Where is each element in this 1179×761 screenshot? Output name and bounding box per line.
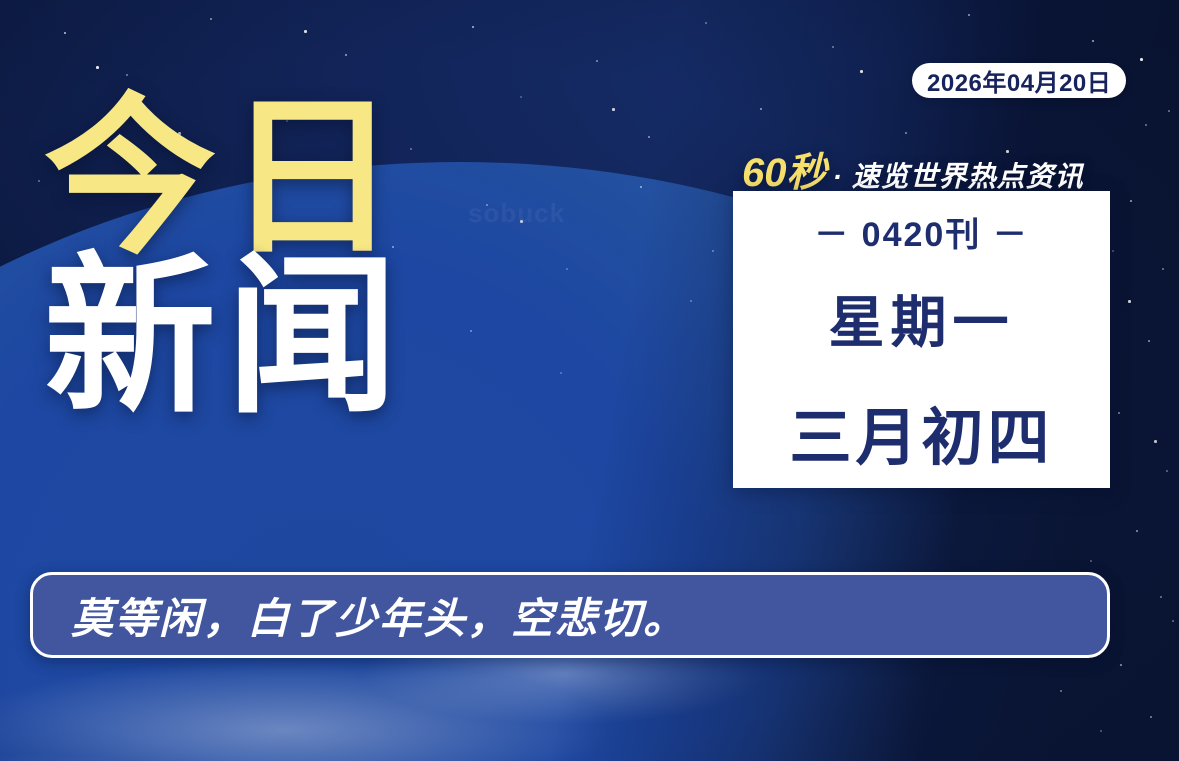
- issue-number: － 0420刊 －: [814, 207, 1029, 256]
- poster-canvas: sobuck 今日 新闻 2026年04月20日 60秒 · 速览世界热点资讯 …: [0, 0, 1179, 761]
- lunar-date-label: 三月初四: [789, 387, 1053, 477]
- weekday-label: 星期一: [829, 278, 1015, 359]
- tagline-description: · 速览世界热点资讯: [833, 155, 1084, 195]
- masthead-line-today: 今日: [44, 96, 408, 261]
- watermark-text: sobuck: [468, 198, 565, 229]
- quote-bar: 莫等闲，白了少年头，空悲切。: [30, 572, 1110, 658]
- masthead: 今日 新闻: [44, 96, 408, 420]
- date-badge: 2026年04月20日: [912, 63, 1126, 98]
- date-info-card: － 0420刊 － 星期一 三月初四: [733, 191, 1110, 488]
- tagline: 60秒 · 速览世界热点资讯: [742, 140, 1084, 198]
- tagline-seconds: 60秒: [742, 140, 827, 198]
- masthead-line-news: 新闻: [44, 255, 408, 420]
- quote-text: 莫等闲，白了少年头，空悲切。: [71, 585, 687, 646]
- starfield-bright: [0, 0, 3, 3]
